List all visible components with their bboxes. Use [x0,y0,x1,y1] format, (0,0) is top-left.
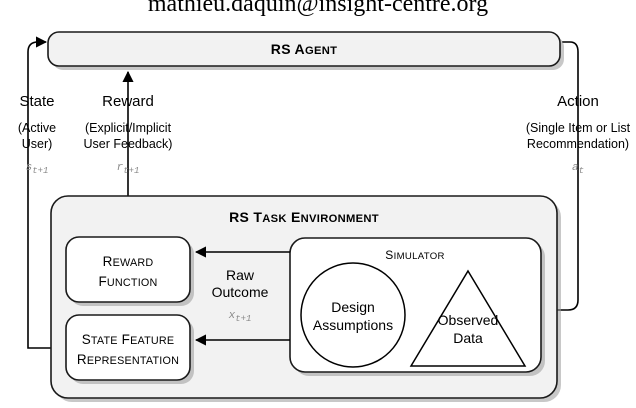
state-sublabel-line2: User) [22,137,53,151]
action-label: Action [557,93,599,110]
state-var-sub: t+1 [32,166,48,176]
action-variable: at [572,162,584,176]
action-sublabel-line1: (Single Item or List [526,121,631,135]
reward-sublabel-line1: (Explicit/Implicit [85,121,172,135]
simulator-title: SIMULATOR [385,248,444,262]
raw-outcome-line1: Raw [226,267,255,283]
env-title-lead: RS [229,209,249,225]
state-feature-representation-box[interactable] [66,315,190,380]
reward-function-line1: REWARD [103,254,154,269]
raw-outcome-line2: Outcome [212,284,269,300]
design-assumptions-line1: Design [331,299,375,315]
observed-data-line1: Observed [438,312,499,328]
reward-function-box[interactable] [66,237,190,302]
reward-label: Reward [102,93,154,110]
action-sublabel-line2: Recommendation) [527,137,629,151]
state-feature-line1: STATE FEATURE [82,332,175,347]
reward-var-sub: t+1 [123,166,139,176]
design-assumptions-line2: Assumptions [313,317,393,333]
state-var-base: s [26,162,33,174]
action-var-sub: t [579,166,584,176]
raw-outcome-var-sub: t+1 [235,314,251,324]
rs-task-environment-diagram: RS TASK ENVIRONMENT SIMULATOR Design Ass… [0,0,636,408]
reward-sublabel-line2: User Feedback) [84,137,173,151]
state-label: State [19,93,54,110]
diagram-page: mathieu.daquin@insight-centre.org RS TAS… [0,0,636,408]
agent-title-lead: RS [271,41,291,57]
state-feature-line2: REPRESENTATION [77,352,179,367]
state-variable: st+1 [26,162,49,176]
reward-function-line2: FUNCTION [98,274,157,289]
observed-data-line2: Data [453,330,483,346]
state-sublabel-line1: (Active [18,121,56,135]
